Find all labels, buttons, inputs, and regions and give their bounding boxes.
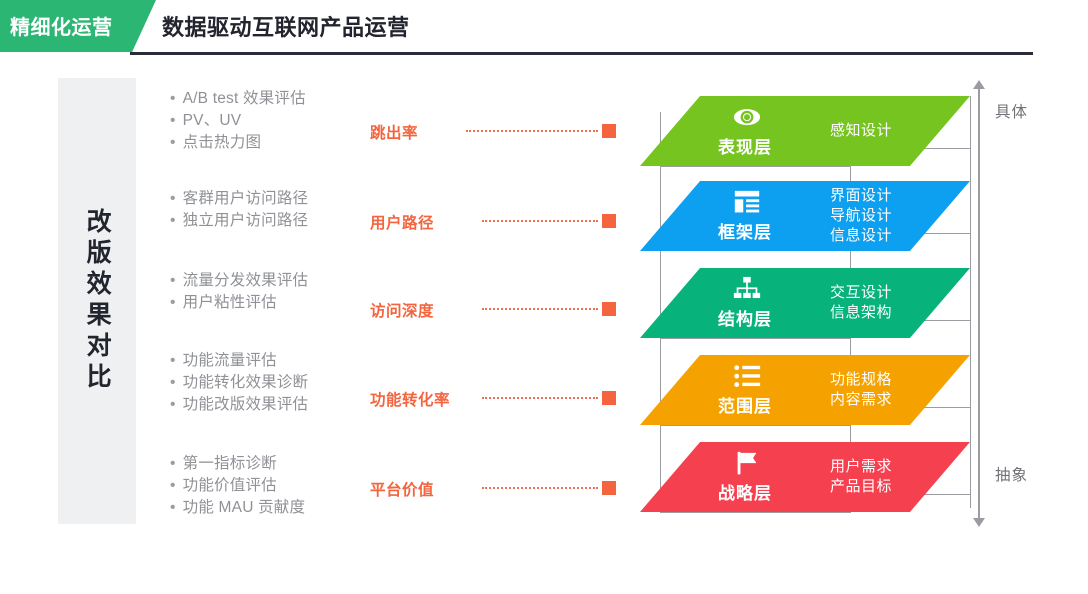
list-item-label: A/B test 效果评估: [183, 90, 306, 107]
list-item: •功能改版效果评估: [170, 394, 375, 416]
bullet-group: •功能流量评估•功能转化效果诊断•功能改版效果评估: [170, 350, 375, 416]
bullet-dot-icon: •: [170, 190, 176, 207]
bullet-dot-icon: •: [170, 134, 176, 151]
metric-endpoint-marker: [602, 124, 616, 138]
list-item-label: 功能价值评估: [183, 477, 277, 494]
list-item-label: 流量分发效果评估: [183, 272, 309, 289]
sidebar-vertical-label: 改版效果对比: [58, 78, 136, 524]
list-item-label: 功能 MAU 贡献度: [183, 499, 306, 516]
axis-bottom-label: 抽象: [995, 463, 1028, 485]
bullet-dot-icon: •: [170, 352, 176, 369]
metric-label: 平台价值: [370, 478, 474, 500]
bullet-dot-icon: •: [170, 90, 176, 107]
slide-canvas: 精细化运营 数据驱动互联网产品运营 改版效果对比 •A/B test 效果评估•…: [0, 0, 1088, 594]
bullet-group: •流量分发效果评估•用户粘性评估: [170, 270, 375, 314]
metric-endpoint-marker: [602, 302, 616, 316]
metric-row: 平台价值: [370, 478, 620, 498]
metric-label: 用户路径: [370, 211, 474, 233]
metric-connector-line: [482, 220, 598, 222]
stack-layer[interactable]: 结构层交互设计信息架构: [640, 268, 970, 338]
stack-layer-description-line: 产品目标: [830, 477, 892, 497]
metric-row: 访问深度: [370, 299, 620, 319]
list-item: •客群用户访问路径: [170, 188, 375, 210]
frame-guide-line: [660, 338, 851, 339]
bullet-dot-icon: •: [170, 499, 176, 516]
list-item: •功能 MAU 贡献度: [170, 497, 375, 519]
list-item: •功能价值评估: [170, 475, 375, 497]
metric-endpoint-marker: [602, 214, 616, 228]
stack-layer-name: 结构层: [718, 305, 772, 330]
stack-layer[interactable]: 范围层功能规格内容需求: [640, 355, 970, 425]
stack-layer-description: 感知设计: [830, 121, 892, 141]
page-title: 数据驱动互联网产品运营: [162, 10, 410, 42]
list-item-label: PV、UV: [183, 112, 242, 129]
list-item-label: 客群用户访问路径: [183, 190, 309, 207]
stack-layer-name: 表现层: [718, 133, 772, 158]
sitemap-icon: [732, 276, 762, 304]
stack-layer[interactable]: 战略层用户需求产品目标: [640, 442, 970, 512]
wireframe-icon: [732, 189, 762, 217]
list-item-label: 独立用户访问路径: [183, 212, 309, 229]
list-item-label: 功能转化效果诊断: [183, 374, 309, 391]
metric-endpoint-marker: [602, 481, 616, 495]
stack-layer-description: 功能规格内容需求: [830, 370, 892, 410]
stack-layer-name: 范围层: [718, 392, 772, 417]
metric-connector-line: [482, 397, 598, 399]
list-item: •独立用户访问路径: [170, 210, 375, 232]
stack-layer-description-line: 导航设计: [830, 206, 892, 226]
metric-connector-line: [482, 308, 598, 310]
bullet-group: •第一指标诊断•功能价值评估•功能 MAU 贡献度: [170, 453, 375, 519]
stack-layer-description-line: 功能规格: [830, 370, 892, 390]
layer-stack-diagram: 表现层感知设计框架层界面设计导航设计信息设计结构层交互设计信息架构范围层功能规格…: [640, 78, 1008, 528]
bullet-dot-icon: •: [170, 455, 176, 472]
axis-arrow-down-icon: [973, 518, 985, 527]
frame-guide-line: [660, 512, 851, 513]
metric-row: 用户路径: [370, 211, 620, 231]
stack-layer-description-line: 交互设计: [830, 283, 892, 303]
stack-layer-description-line: 内容需求: [830, 390, 892, 410]
metric-connector-line: [482, 487, 598, 489]
stack-layer-name: 战略层: [718, 479, 772, 504]
stack-layer-description: 界面设计导航设计信息设计: [830, 186, 892, 246]
metric-row: 跳出率: [370, 121, 620, 141]
bullet-group: •A/B test 效果评估•PV、UV•点击热力图: [170, 88, 375, 154]
bullet-group: •客群用户访问路径•独立用户访问路径: [170, 188, 375, 232]
eye-icon: [732, 104, 762, 132]
stack-layer-description-line: 信息设计: [830, 226, 892, 246]
list-item-label: 第一指标诊断: [183, 455, 277, 472]
bullet-dot-icon: •: [170, 396, 176, 413]
bullet-dot-icon: •: [170, 212, 176, 229]
frame-guide-line: [970, 96, 971, 508]
metric-label: 访问深度: [370, 299, 474, 321]
bullet-dot-icon: •: [170, 477, 176, 494]
stack-layer-description: 用户需求产品目标: [830, 457, 892, 497]
sidebar-label-text: 改版效果对比: [84, 208, 110, 394]
list-item: •点击热力图: [170, 132, 375, 154]
metric-label: 跳出率: [370, 121, 458, 143]
bullet-dot-icon: •: [170, 374, 176, 391]
flag-icon: [732, 450, 762, 478]
frame-guide-line: [660, 112, 661, 508]
bullet-dot-icon: •: [170, 294, 176, 311]
list-item-label: 功能流量评估: [183, 352, 277, 369]
stack-layer[interactable]: 表现层感知设计: [640, 96, 970, 166]
list-item: •功能流量评估: [170, 350, 375, 372]
list-item-label: 功能改版效果评估: [183, 396, 309, 413]
list-item: •A/B test 效果评估: [170, 88, 375, 110]
stack-layer-name: 框架层: [718, 218, 772, 243]
stack-layer-description-line: 界面设计: [830, 186, 892, 206]
bullet-list-icon: [732, 363, 762, 391]
list-item: •用户粘性评估: [170, 292, 375, 314]
bullet-dot-icon: •: [170, 112, 176, 129]
stack-layer-description-line: 信息架构: [830, 303, 892, 323]
header-divider: [130, 52, 1033, 55]
stack-layer-description-line: 感知设计: [830, 121, 892, 141]
header-tag-label: 精细化运营: [10, 11, 113, 40]
list-item-label: 用户粘性评估: [183, 294, 277, 311]
metric-row: 功能转化率: [370, 388, 620, 408]
list-item: •流量分发效果评估: [170, 270, 375, 292]
metric-connector-line: [466, 130, 598, 132]
frame-guide-line: [660, 425, 851, 426]
list-item: •PV、UV: [170, 110, 375, 132]
axis-line: [978, 88, 980, 518]
frame-guide-line: [660, 166, 851, 167]
bullet-dot-icon: •: [170, 272, 176, 289]
list-item: •功能转化效果诊断: [170, 372, 375, 394]
stack-layer-description-line: 用户需求: [830, 457, 892, 477]
stack-layer-description: 交互设计信息架构: [830, 283, 892, 323]
list-item: •第一指标诊断: [170, 453, 375, 475]
stack-layer[interactable]: 框架层界面设计导航设计信息设计: [640, 181, 970, 251]
list-item-label: 点击热力图: [183, 134, 262, 151]
metric-label: 功能转化率: [370, 388, 474, 410]
axis-top-label: 具体: [995, 100, 1028, 122]
metric-endpoint-marker: [602, 391, 616, 405]
